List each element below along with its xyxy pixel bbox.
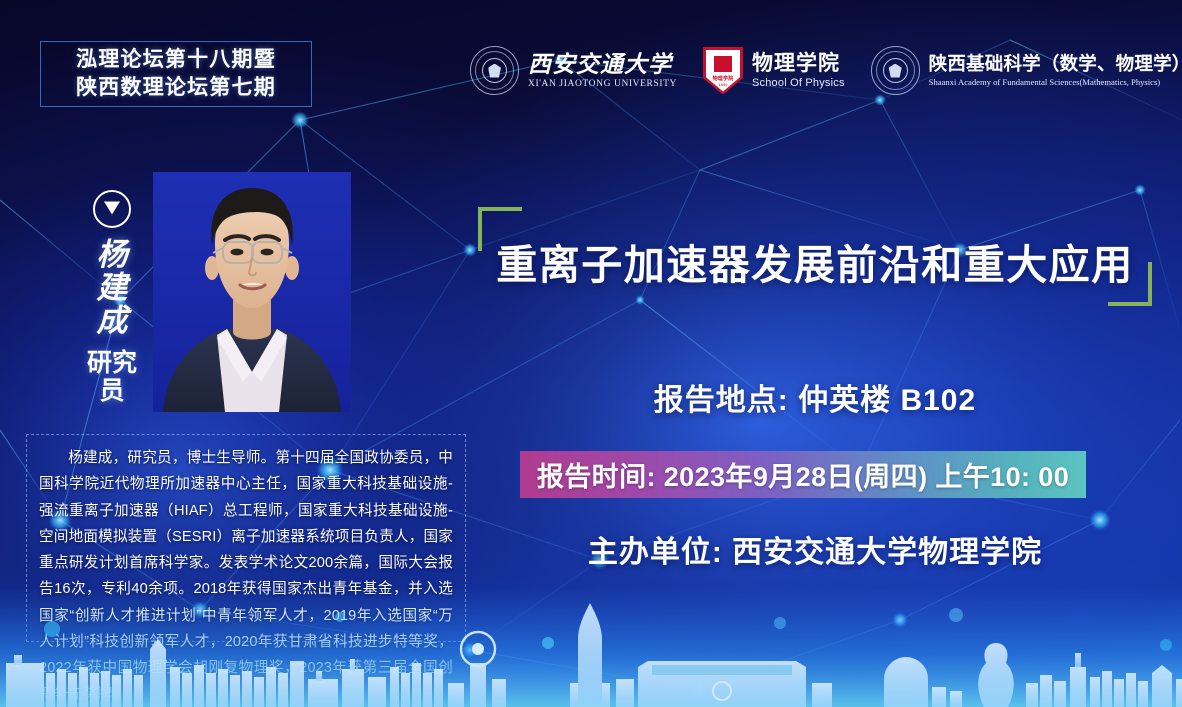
shield-name-cn: 物理学院 [706,75,740,82]
speaker-bio-text: 杨建成，研究员，博士生导师。第十四届全国政协委员，中国科学院近代物理所加速器中心… [39,445,453,707]
speaker-name-vertical: 杨 建 成 研究员 [82,190,142,405]
talk-time-text: 报告时间: 2023年9月28日(周四) 上午10: 00 [537,455,1069,494]
shaanxi-academy-seal-icon [871,46,920,95]
talk-title: 重离子加速器发展前沿和重大应用 [470,231,1160,291]
talk-venue: 报告地点: 仲英楼 B102 [470,375,1160,419]
talk-host: 主办单位: 西安交通大学物理学院 [470,527,1160,571]
speaker-portrait [153,172,351,412]
shield-year: 1896 [706,82,740,87]
speaker-name-char-2: 建 [82,271,142,304]
forum-title-badge: 泓理论坛第十八期暨 陕西数理论坛第七期 [40,41,312,107]
academy-name-en: Shaanxi Academy of Fundamental Sciences(… [929,77,1182,87]
xjtu-name-cn: 西安交通大学 [528,52,677,77]
poster-header: 泓理论坛第十八期暨 陕西数理论坛第七期 西安交通大学 XI'AN JIAOTON… [0,0,1182,130]
physics-name-en: School Of Physics [752,77,845,89]
talk-title-block: 重离子加速器发展前沿和重大应用 [470,205,1160,310]
organization-logos: 西安交通大学 XI'AN JIAOTONG UNIVERSITY 物理学院 18… [470,46,1182,95]
physics-name-cn: 物理学院 [752,52,845,75]
xjtu-seal-icon [470,46,519,95]
portrait-illustration [153,172,351,412]
seminar-poster: 泓理论坛第十八期暨 陕西数理论坛第七期 西安交通大学 XI'AN JIAOTON… [0,0,1182,707]
logo-xjtu: 西安交通大学 XI'AN JIAOTONG UNIVERSITY [470,46,677,95]
speaker-name-char-1: 杨 [82,238,142,271]
speaker-name-char-3: 成 [82,304,142,337]
forum-title-line1: 泓理论坛第十八期暨 [76,46,276,74]
play-triangle-icon [93,190,131,228]
logo-school-of-physics: 物理学院 1896 物理学院 School Of Physics [703,47,845,95]
speaker-role: 研究员 [82,349,142,405]
forum-title-line2: 陕西数理论坛第七期 [76,74,276,102]
xjtu-name-en: XI'AN JIAOTONG UNIVERSITY [528,79,677,89]
logo-shaanxi-academy: 陕西基础科学（数学、物理学）研究院 Shaanxi Academy of Fun… [871,46,1182,95]
academy-name-cn: 陕西基础科学（数学、物理学）研究院 [929,54,1182,74]
speaker-bio-box: 杨建成，研究员，博士生导师。第十四届全国政协委员，中国科学院近代物理所加速器中心… [26,434,466,642]
talk-time-banner: 报告时间: 2023年9月28日(周四) 上午10: 00 [520,451,1086,498]
school-of-physics-shield-icon: 物理学院 1896 [703,47,743,95]
